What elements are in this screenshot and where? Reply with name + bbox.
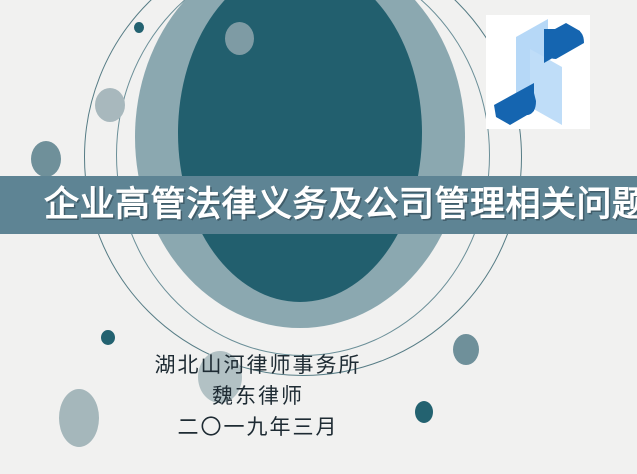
shanhe-s-logo-icon	[486, 15, 590, 129]
subtitle-line-firm: 湖北山河律师事务所	[0, 350, 516, 381]
firm-logo	[486, 15, 590, 129]
decorative-dot-5	[101, 330, 115, 345]
subtitle-line-date: 二〇一九年三月	[0, 412, 516, 443]
decorative-dot-1	[134, 22, 144, 33]
decorative-dot-3	[95, 88, 125, 122]
decorative-dot-2	[225, 22, 254, 55]
slide-title-band: 企业高管法律义务及公司管理相关问题	[0, 176, 637, 234]
slide-subtitle-block: 湖北山河律师事务所 魏东律师 二〇一九年三月	[0, 350, 516, 443]
presentation-slide: 企业高管法律义务及公司管理相关问题 湖北山河律师事务所 魏东律师 二〇一九年三月	[0, 0, 637, 474]
slide-title: 企业高管法律义务及公司管理相关问题	[44, 188, 637, 223]
decorative-dot-4	[31, 141, 61, 177]
subtitle-line-presenter: 魏东律师	[0, 381, 516, 412]
